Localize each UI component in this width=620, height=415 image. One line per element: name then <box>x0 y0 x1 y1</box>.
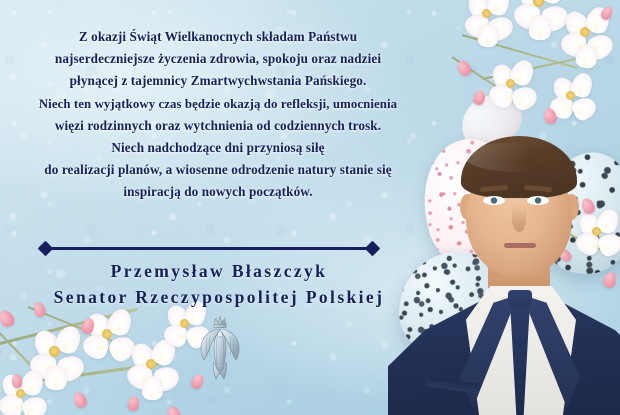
greeting-line: Niech nadchodzące dni przyniosą siłę <box>18 137 418 159</box>
hair <box>461 136 577 198</box>
mouth <box>504 243 536 248</box>
decorative-divider <box>40 243 378 254</box>
greeting-line: inspiracją do nowych początków. <box>18 181 418 203</box>
greeting-line: Z okazji Świąt Wielkanocnych składam Pań… <box>18 26 418 48</box>
greeting-line: najserdeczniejsze życzenia zdrowia, spok… <box>18 48 418 70</box>
nose <box>512 206 526 232</box>
greeting-line: do realizacji planów, a wiosenne odrodze… <box>18 159 418 181</box>
blossom-cluster-top-right <box>452 0 620 136</box>
greeting-line: płynącej z tajemnicy Zmartwychwstania Pa… <box>18 70 418 92</box>
greeting-line: Niech ten wyjątkowy czas będzie okazją d… <box>18 93 418 115</box>
polish-senate-eagle-emblem-icon <box>196 312 244 382</box>
necktie-knot <box>508 290 532 308</box>
greeting-text-block: Z okazji Świąt Wielkanocnych składam Pań… <box>18 26 418 204</box>
easter-greeting-card: Z okazji Świąt Wielkanocnych składam Pań… <box>0 0 620 415</box>
senator-portrait <box>404 118 620 415</box>
divider-rule <box>45 247 373 250</box>
signature-name: Przemysław Błaszczyk <box>14 258 424 284</box>
eye-right <box>527 196 549 205</box>
greeting-line: więzi rodzinnych oraz wytchnienia od cod… <box>18 115 418 137</box>
signature-block: Przemysław Błaszczyk Senator Rzeczypospo… <box>14 258 424 310</box>
signature-role: Senator Rzeczypospolitej Polskiej <box>14 284 424 310</box>
diamond-marker-right-icon <box>365 241 381 257</box>
eye-left <box>483 196 505 205</box>
